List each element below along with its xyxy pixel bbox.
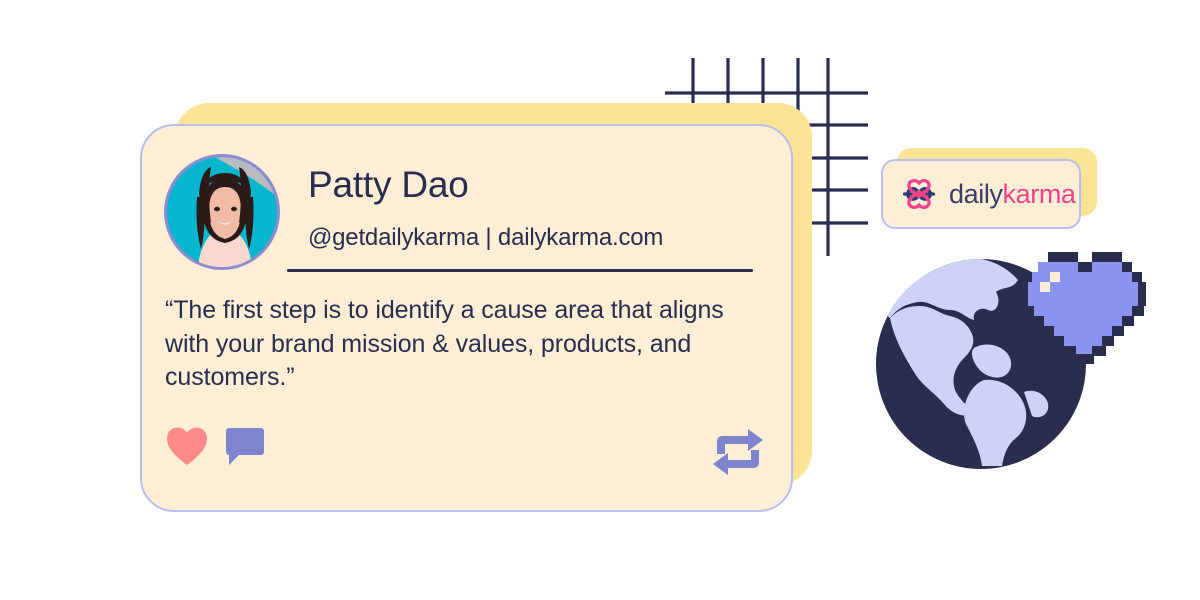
repost-group — [711, 428, 765, 476]
reaction-group — [166, 426, 264, 466]
handle-line: @getdailykarma | dailykarma.com — [308, 226, 767, 250]
quote-card-header: Patty Dao @getdailykarma | dailykarma.co… — [164, 148, 767, 272]
brand-wordmark: dailykarma — [949, 181, 1076, 208]
pixel-heart-icon — [1024, 252, 1146, 364]
action-bar — [166, 426, 765, 486]
brand-badge: dailykarma — [881, 159, 1081, 229]
avatar — [164, 154, 280, 270]
page-title: Patty Dao — [308, 166, 767, 203]
identity-block: Patty Dao @getdailykarma | dailykarma.co… — [308, 154, 767, 250]
brand-word-second: karma — [1003, 179, 1076, 209]
comment-bubble-icon[interactable] — [226, 427, 264, 465]
dailykarma-knot-icon — [898, 178, 940, 210]
brand-word-first: daily — [949, 179, 1003, 209]
quote-card: Patty Dao @getdailykarma | dailykarma.co… — [140, 124, 793, 512]
globe-illustration — [876, 252, 1146, 482]
heart-icon[interactable] — [166, 426, 208, 466]
poster-canvas: Patty Dao @getdailykarma | dailykarma.co… — [0, 0, 1200, 600]
quote-text: “The first step is to identify a cause a… — [165, 294, 725, 395]
avatar-photo — [167, 157, 280, 270]
divider — [287, 269, 753, 272]
repost-icon[interactable] — [711, 428, 765, 476]
